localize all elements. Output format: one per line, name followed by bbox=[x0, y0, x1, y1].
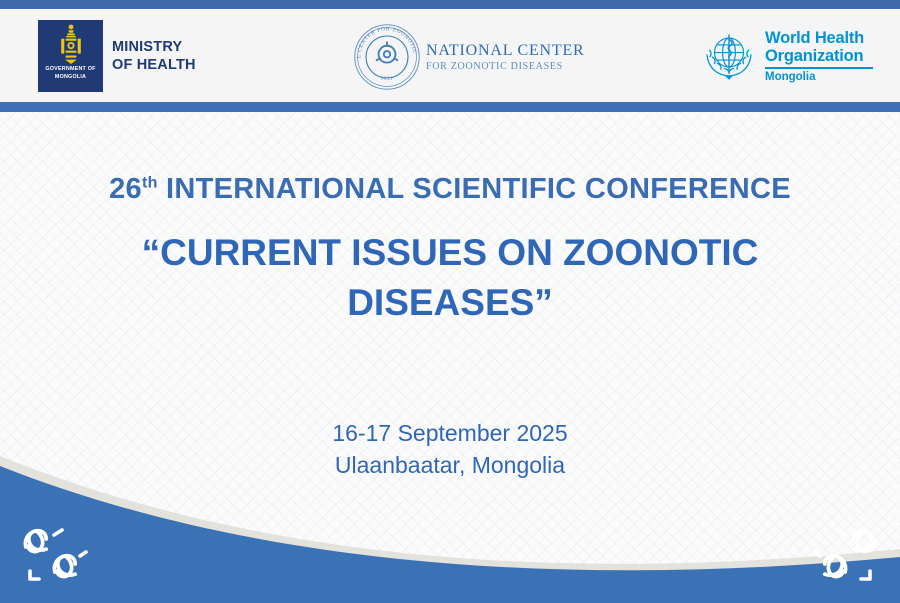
ministry-name-line2: OF HEALTH bbox=[112, 56, 196, 74]
soyombo-icon bbox=[58, 23, 84, 65]
mongolia-government-emblem: GOVERNMENT OF MONGOLIA bbox=[38, 20, 103, 92]
conference-title-slide: GOVERNMENT OF MONGOLIA MINISTRY OF HEALT… bbox=[0, 0, 900, 603]
conference-edition-line: 26th INTERNATIONAL SCIENTIFIC CONFERENCE bbox=[0, 172, 900, 206]
emblem-label-line2: MONGOLIA bbox=[55, 74, 86, 81]
ministry-name-line1: MINISTRY bbox=[112, 38, 196, 56]
national-center-name: NATIONAL CENTER FOR ZOONOTIC DISEASES bbox=[426, 42, 585, 73]
event-date: 16-17 September 2025 bbox=[0, 417, 900, 449]
ornament-bottom-right bbox=[806, 525, 886, 587]
conference-ordinal-suffix: th bbox=[142, 174, 158, 191]
national-center-logo: NATIONAL CENTER FOR ZOONOTIC DISEASES 19… bbox=[352, 22, 585, 92]
who-logo: World Health Organization Mongolia bbox=[700, 27, 873, 85]
conference-label: INTERNATIONAL SCIENTIFIC CONFERENCE bbox=[158, 173, 791, 205]
svg-text:1951: 1951 bbox=[381, 77, 394, 82]
zoonotic-seal-icon: NATIONAL CENTER FOR ZOONOTIC DISEASES 19… bbox=[352, 22, 422, 92]
logo-row: GOVERNMENT OF MONGOLIA MINISTRY OF HEALT… bbox=[0, 9, 900, 102]
conference-number: 26 bbox=[109, 173, 142, 205]
national-center-name-line1: NATIONAL CENTER bbox=[426, 42, 585, 60]
who-rule bbox=[765, 67, 873, 69]
title-block: 26th INTERNATIONAL SCIENTIFIC CONFERENCE… bbox=[0, 172, 900, 328]
who-name-line2: Organization bbox=[765, 47, 873, 65]
logo-header-band: GOVERNMENT OF MONGOLIA MINISTRY OF HEALT… bbox=[0, 9, 900, 102]
who-wordmark: World Health Organization Mongolia bbox=[765, 27, 873, 84]
ministry-of-health-logo: GOVERNMENT OF MONGOLIA MINISTRY OF HEALT… bbox=[38, 20, 196, 92]
ornament-bottom-left bbox=[14, 525, 94, 587]
who-country-label: Mongolia bbox=[765, 71, 873, 84]
who-name-line1: World Health bbox=[765, 29, 873, 47]
who-emblem-icon bbox=[700, 27, 758, 85]
page-title: “CURRENT ISSUES ON ZOONOTIC DISEASES” bbox=[0, 228, 900, 328]
ministry-name: MINISTRY OF HEALTH bbox=[112, 38, 196, 74]
top-accent-bar bbox=[0, 0, 900, 9]
header-divider-bar bbox=[0, 102, 900, 112]
emblem-label-line1: GOVERNMENT OF bbox=[45, 66, 95, 73]
bottom-wave-decoration bbox=[0, 453, 900, 603]
national-center-name-line2: FOR ZOONOTIC DISEASES bbox=[426, 60, 585, 73]
